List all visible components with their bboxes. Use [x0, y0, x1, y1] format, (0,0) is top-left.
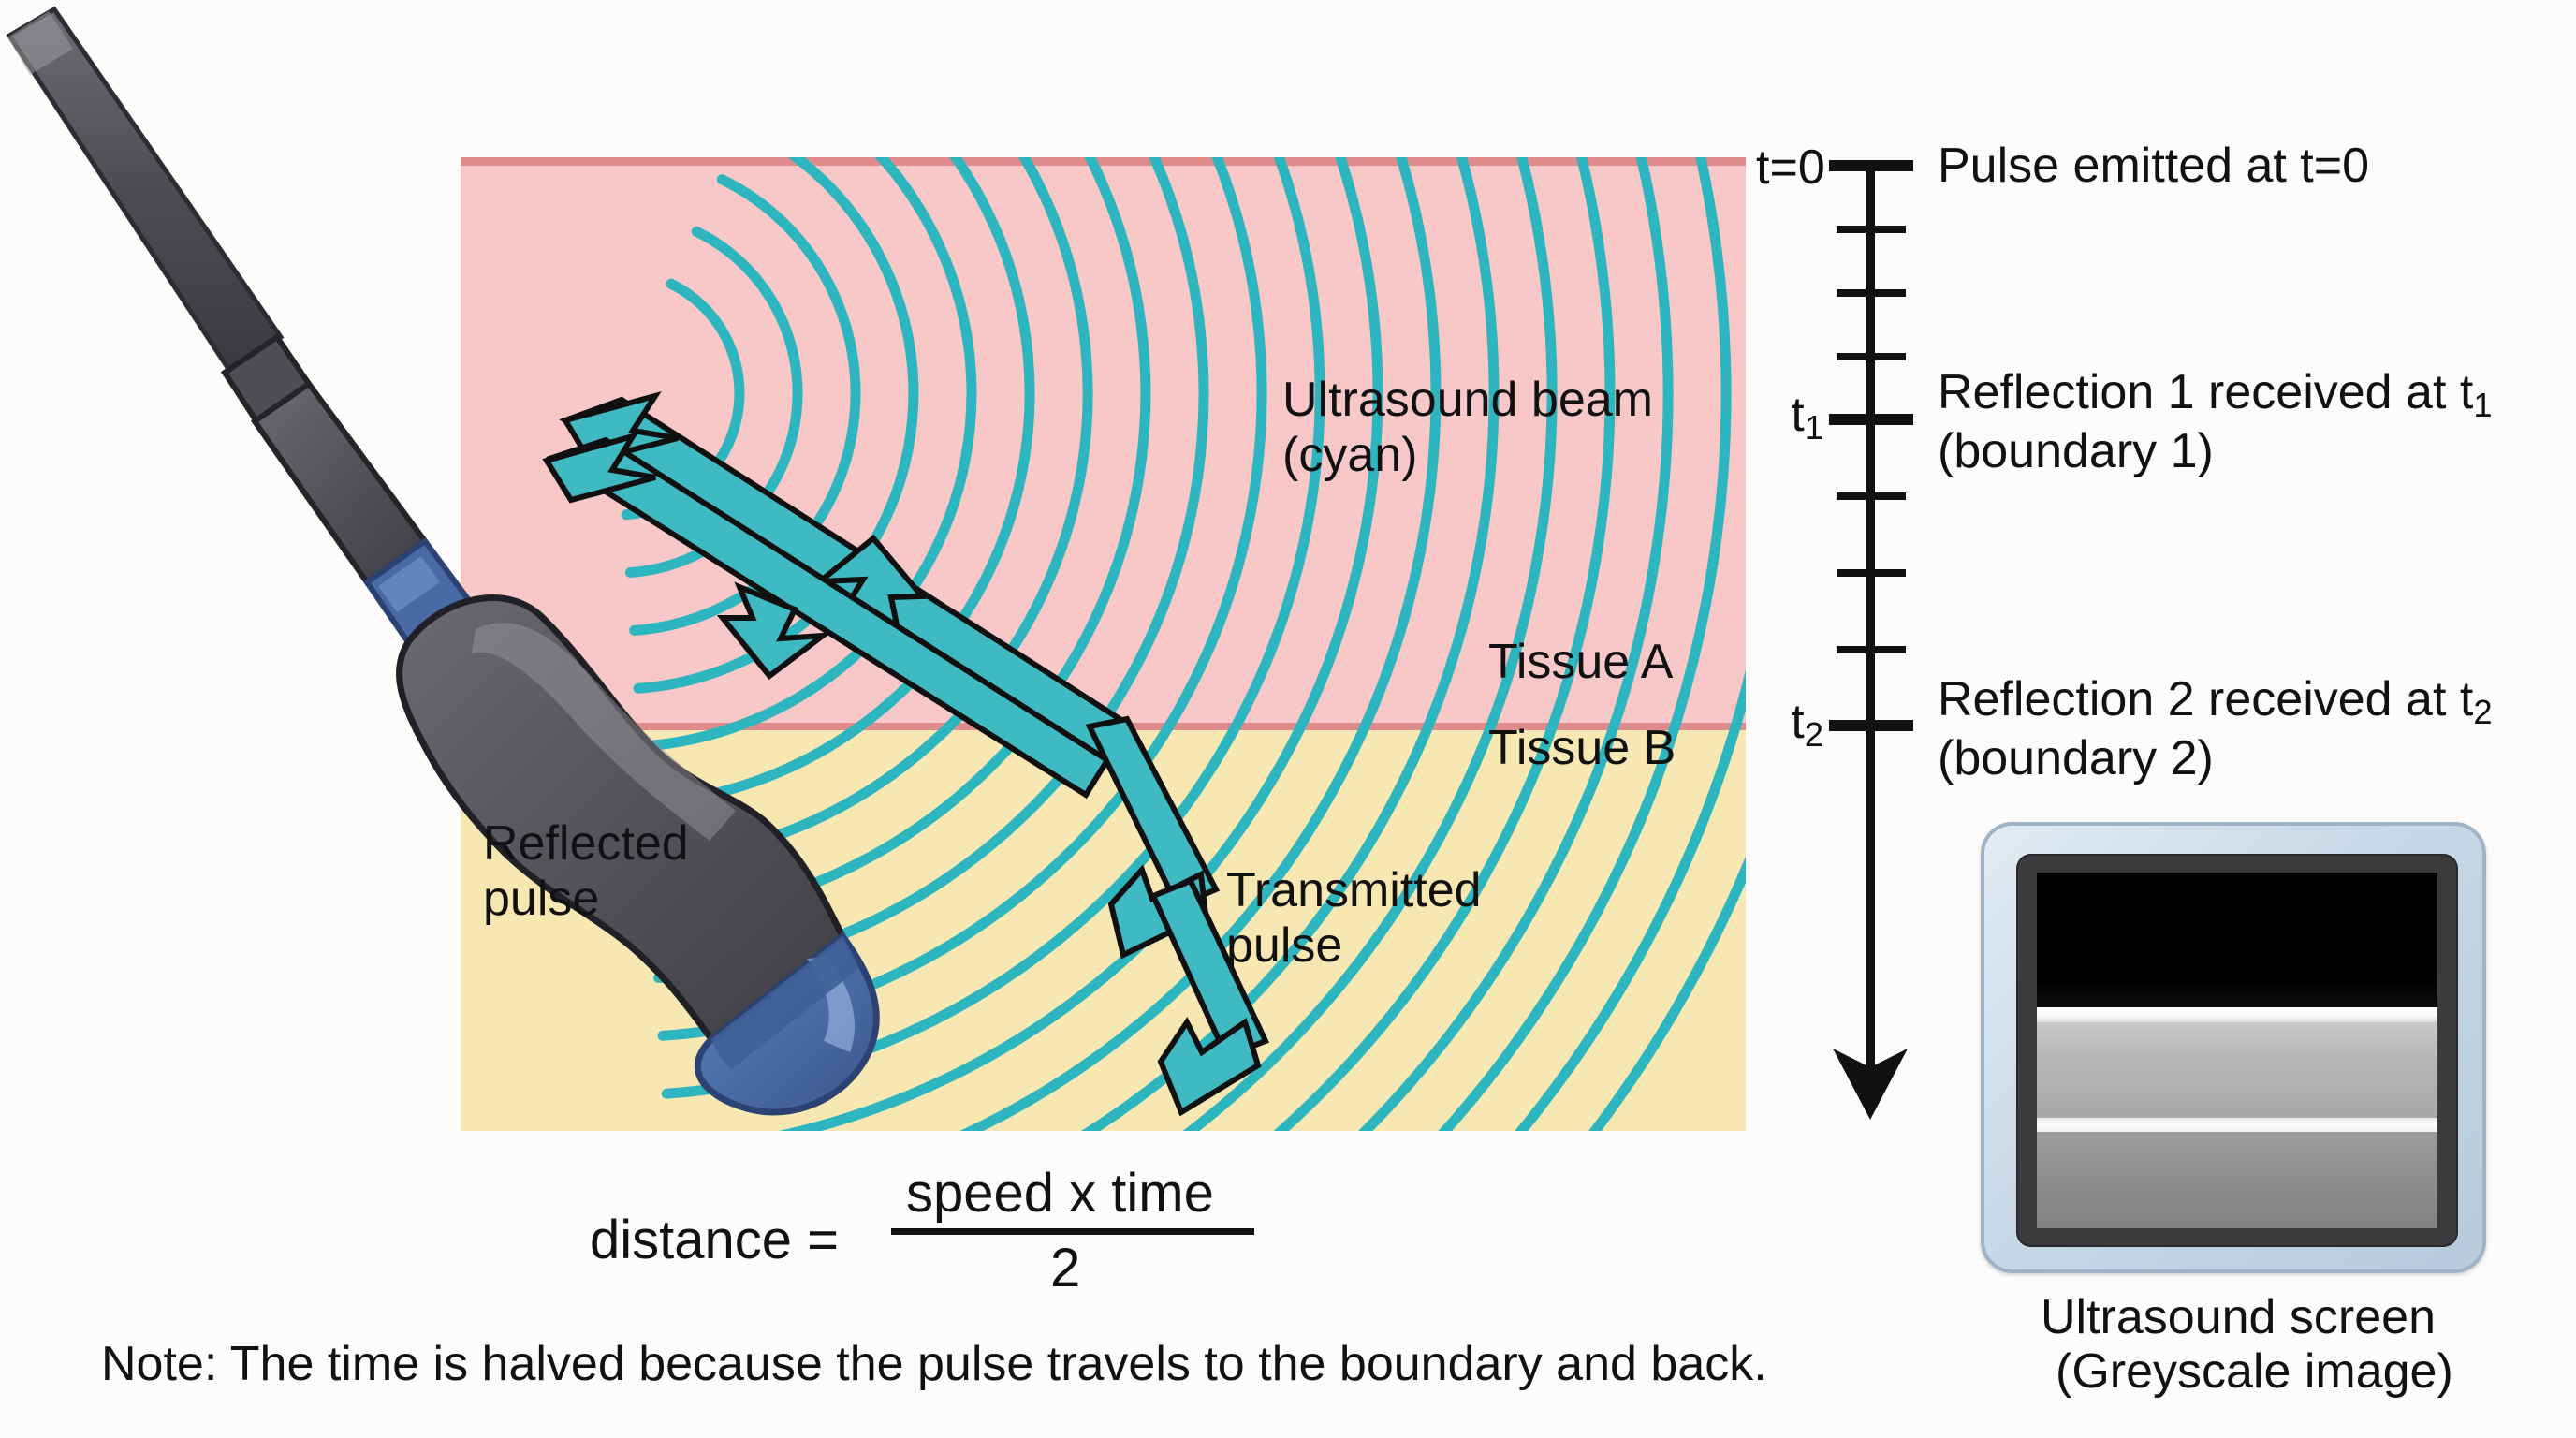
timeline-event-2-line1-sub: 2 [2473, 693, 2492, 731]
ultrasound-screen-bezel [2016, 854, 2458, 1247]
tissue-a-grey-band [2037, 1022, 2437, 1119]
timeline-event-2-line2: (boundary 2) [1938, 731, 2214, 785]
ultrasound-screen[interactable] [1981, 822, 2486, 1273]
timeline-tick-label-t1: t1 [1756, 388, 1823, 447]
ultrasound-screen-caption-line2: (Greyscale image) [2056, 1344, 2453, 1400]
timeline-event-1-line1-sub: 1 [2473, 386, 2492, 424]
timeline-event-1-line2: (boundary 1) [1938, 424, 2214, 478]
timeline-event-2-line1-base: Reflection 2 received at t [1938, 672, 2473, 726]
boundary-2-echo-line [2037, 1118, 2437, 1132]
anechoic-black-band [2037, 873, 2437, 1007]
timeline-event-2-text: Reflection 2 received at t2 (boundary 2) [1938, 672, 2493, 786]
ultrasound-greyscale-image [2037, 873, 2437, 1228]
timeline-event-1-line1-base: Reflection 1 received at t [1938, 365, 2473, 419]
timeline-tick-label-t2-base: t [1791, 695, 1804, 749]
boundary-1-echo-line [2037, 1007, 2437, 1021]
ultrasound-screen-caption-line1: Ultrasound screen [2041, 1290, 2436, 1345]
equation-denominator: 2 [1050, 1238, 1080, 1299]
equation-numerator: speed x time [906, 1163, 1214, 1225]
equation-left-side: distance = [590, 1210, 839, 1271]
timeline-tick-label-t2-sub: 2 [1805, 715, 1823, 754]
equation-note: Note: The time is halved because the pul… [101, 1337, 1767, 1392]
tissue-b-grey-band [2037, 1132, 2437, 1228]
timeline-event-0-text: Pulse emitted at t=0 [1938, 139, 2369, 194]
ultrasound-diagram-canvas: Ultrasound beam (cyan) Tissue A Tissue B… [0, 0, 2576, 1438]
equation-fraction-bar [891, 1228, 1254, 1235]
timeline-event-2-line1: Reflection 2 received at t2 [1938, 672, 2493, 726]
timeline-tick-label-t0: t=0 [1756, 140, 1823, 196]
timeline-tick-label-t2: t2 [1756, 695, 1823, 754]
timeline-event-1-text: Reflection 1 received at t1 (boundary 1) [1938, 365, 2493, 479]
timeline-tick-label-t1-base: t [1791, 388, 1804, 442]
timeline-event-1-line1: Reflection 1 received at t1 [1938, 365, 2493, 419]
timeline-tick-label-t1-sub: 1 [1805, 408, 1823, 447]
